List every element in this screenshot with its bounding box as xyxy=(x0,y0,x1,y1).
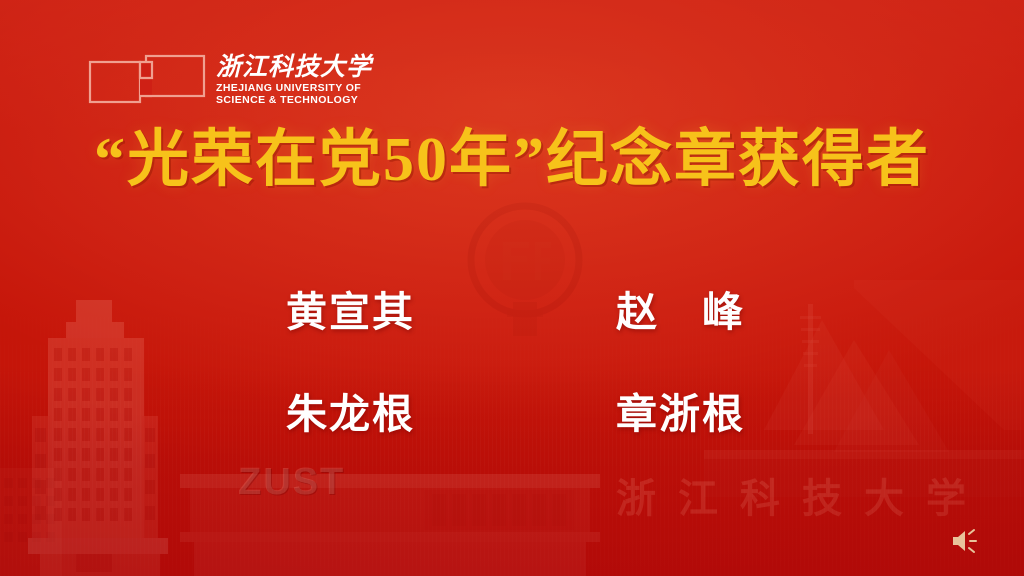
university-logo: 浙江科技大学 ZHEJIANG UNIVERSITY OF SCIENCE & … xyxy=(88,54,372,106)
honoree-list: 黄宣其 赵 峰 朱龙根 章浙根 xyxy=(230,278,810,440)
university-name-en-line1: ZHEJIANG UNIVERSITY OF xyxy=(216,83,372,94)
honoree-name: 黄宣其 xyxy=(230,278,616,338)
slide-title: “光荣在党50年”纪念章获得者 xyxy=(0,128,1024,193)
honoree-name: 朱龙根 xyxy=(230,380,616,440)
honoree-name: 章浙根 xyxy=(616,380,810,440)
honoree-name: 赵 峰 xyxy=(616,278,810,338)
zust-logo-mark-icon xyxy=(88,54,206,106)
university-name-cn: 浙江科技大学 xyxy=(216,55,372,80)
presentation-slide: ZUST 浙江科技大学 xyxy=(0,0,1024,576)
university-name-en-line2: SCIENCE & TECHNOLOGY xyxy=(216,95,372,106)
university-logo-text: 浙江科技大学 ZHEJIANG UNIVERSITY OF SCIENCE & … xyxy=(216,55,372,106)
speaker-icon[interactable] xyxy=(950,528,980,554)
honoree-row: 黄宣其 赵 峰 xyxy=(230,278,810,338)
honoree-row: 朱龙根 章浙根 xyxy=(230,380,810,440)
